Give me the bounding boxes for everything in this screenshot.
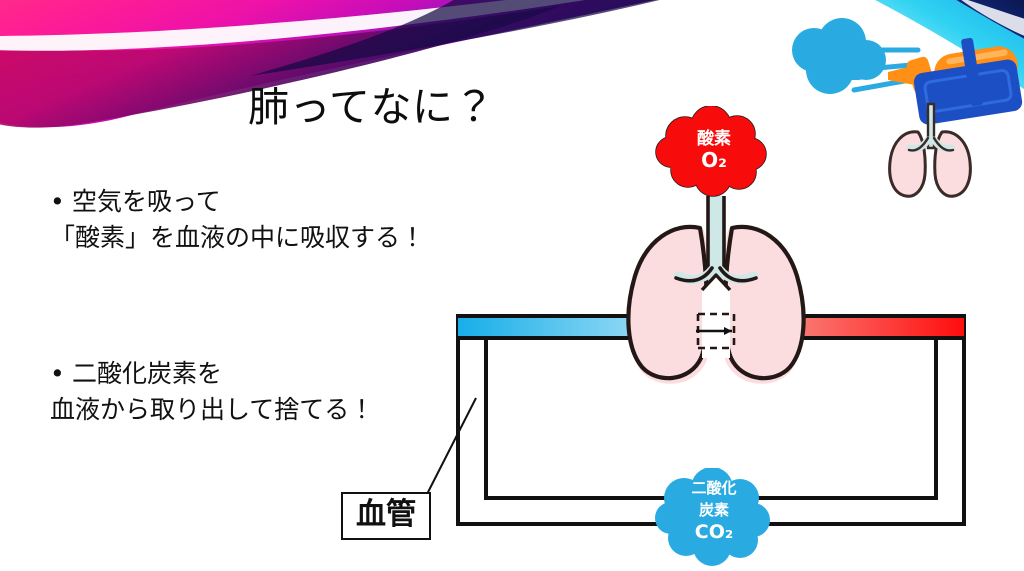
bullet-marker-icon: • [50, 356, 72, 392]
carbon-dioxide-cloud: 二酸化 炭素 CO₂ [654, 468, 774, 566]
blood-vessel-callout-label: 血管 [341, 492, 431, 540]
inhaler-canister-icon [932, 44, 1021, 95]
bullet-item-2: •二酸化炭素を 血液から取り出して捨てる！ [50, 356, 374, 427]
bullet-item-1: •空気を吸って 「酸素」を血液の中に吸収する！ [50, 184, 425, 255]
bullet-2-line-2: 血液から取り出して捨てる！ [50, 392, 374, 428]
co2-cloud-shape [654, 468, 774, 566]
trachea-fill [708, 196, 724, 274]
slide-canvas: 肺ってなに？ •空気を吸って 「酸素」を血液の中に吸収する！ •二酸化炭素を 血… [0, 0, 1024, 571]
bullet-1-line-1: •空気を吸って [50, 184, 425, 220]
swoosh-band-cyan [856, 0, 1024, 96]
bullet-2-line-1: •二酸化炭素を [50, 356, 374, 392]
lung-lobe-left [628, 227, 706, 378]
swoosh-highlight-cyan [956, 0, 1024, 40]
swoosh-edge-navy [250, 0, 700, 76]
lungs-illustration [608, 196, 824, 392]
inhaler-body-icon [913, 37, 1024, 125]
bullet-2-line-1-text: 二酸化炭素を [72, 359, 222, 388]
swoosh-band-pink [0, 0, 640, 80]
page-title: 肺ってなに？ [248, 84, 495, 131]
bullet-1-line-2: 「酸素」を血液の中に吸収する！ [50, 220, 425, 256]
lung-lobe-right [725, 227, 803, 378]
oxygen-cloud: 酸素 O₂ [655, 106, 773, 198]
spray-cloud-icon [792, 18, 886, 94]
small-lungs-icon [890, 104, 971, 196]
decorative-swoosh [0, 0, 1024, 200]
bullet-marker-icon: • [50, 184, 72, 220]
bullet-1-line-1-text: 空気を吸って [72, 187, 221, 216]
spray-lines-icon [854, 50, 922, 90]
oxygen-cloud-shape [655, 106, 773, 198]
inhaler-clipart [770, 8, 1024, 200]
swoosh-band-navy [940, 0, 1024, 44]
inhaler-nozzle-icon [888, 56, 936, 95]
swoosh-highlight [0, 0, 660, 51]
